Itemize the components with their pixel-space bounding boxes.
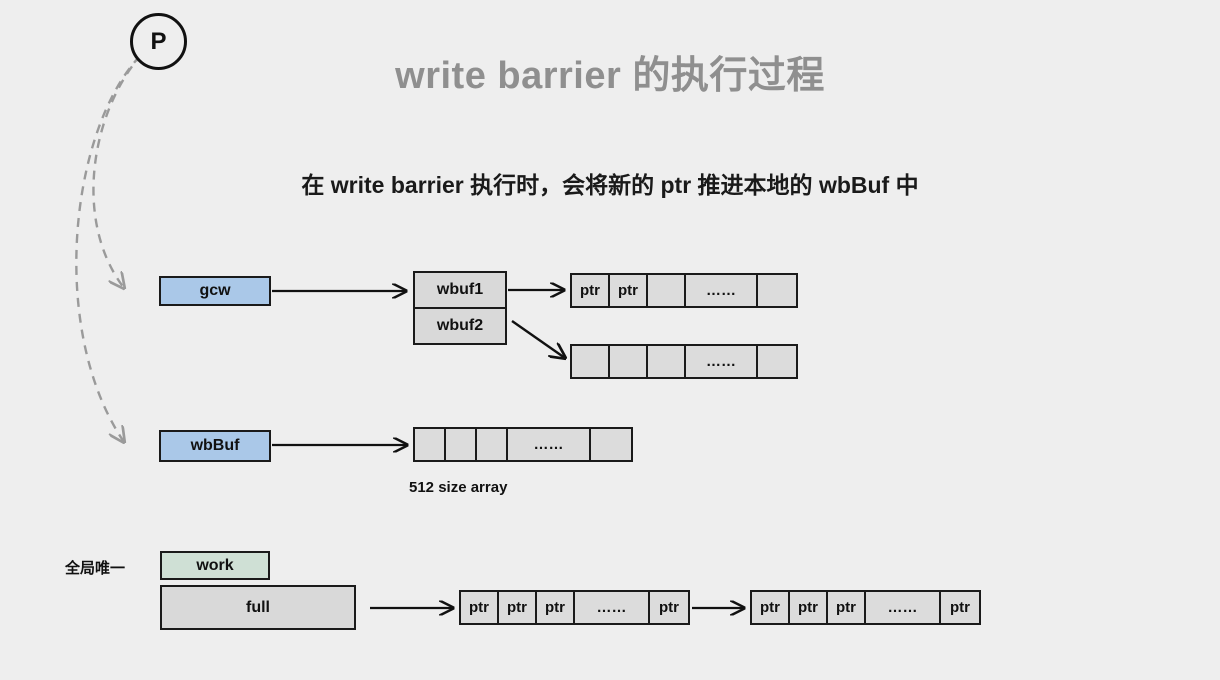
- array-size-label: 512 size array: [409, 479, 507, 496]
- array-cell: ptr: [572, 275, 610, 306]
- array-cell: ptr: [752, 592, 790, 623]
- node-wbuf2-label: wbuf2: [437, 317, 483, 335]
- node-work: work: [160, 551, 270, 580]
- node-full: full: [160, 585, 356, 630]
- array-cell: ptr: [610, 275, 648, 306]
- array-full-first: ptr ptr ptr …… ptr: [459, 590, 690, 625]
- array-cell-ellipsis: ……: [686, 346, 758, 377]
- edge-wbuf2-to-array: [512, 321, 565, 358]
- array-cell: ptr: [790, 592, 828, 623]
- array-cell: [758, 275, 796, 306]
- array-cell: [648, 275, 686, 306]
- array-cell: ptr: [650, 592, 688, 623]
- array-cell: ptr: [941, 592, 979, 623]
- array-cell: [415, 429, 446, 460]
- array-cell: ptr: [461, 592, 499, 623]
- page-subtitle: 在 write barrier 执行时，会将新的 ptr 推进本地的 wbBuf…: [0, 166, 1220, 200]
- array-wbbuf: ……: [413, 427, 633, 462]
- node-gcw-label: gcw: [199, 282, 230, 300]
- array-cell: [591, 429, 631, 460]
- node-wbuf1-label: wbuf1: [437, 281, 483, 299]
- array-cell: [446, 429, 477, 460]
- array-cell: [610, 346, 648, 377]
- array-cell: [477, 429, 508, 460]
- array-cell: [648, 346, 686, 377]
- global-unique-label: 全局唯一: [65, 557, 125, 578]
- node-full-label: full: [246, 599, 270, 617]
- node-work-label: work: [196, 557, 233, 575]
- diagram-canvas: P write barrier 的执行过程 在 write barrier 执行…: [0, 0, 1220, 680]
- array-cell: ptr: [828, 592, 866, 623]
- node-wbuf1: wbuf1: [413, 271, 507, 308]
- array-wbuf1: ptr ptr ……: [570, 273, 798, 308]
- node-wbbuf: wbBuf: [159, 430, 271, 462]
- array-cell-ellipsis: ……: [866, 592, 941, 623]
- array-cell: ptr: [499, 592, 537, 623]
- node-wbuf2: wbuf2: [413, 308, 507, 345]
- array-wbuf2: ……: [570, 344, 798, 379]
- array-cell: [572, 346, 610, 377]
- array-cell-ellipsis: ……: [686, 275, 758, 306]
- array-cell: ptr: [537, 592, 575, 623]
- array-full-second: ptr ptr ptr …… ptr: [750, 590, 981, 625]
- array-cell-ellipsis: ……: [575, 592, 650, 623]
- node-gcw: gcw: [159, 276, 271, 306]
- array-cell: [758, 346, 796, 377]
- edge-p-to-wbbuf: [76, 56, 140, 442]
- node-wbbuf-label: wbBuf: [191, 437, 240, 455]
- array-cell-ellipsis: ……: [508, 429, 591, 460]
- page-title: write barrier 的执行过程: [0, 44, 1220, 99]
